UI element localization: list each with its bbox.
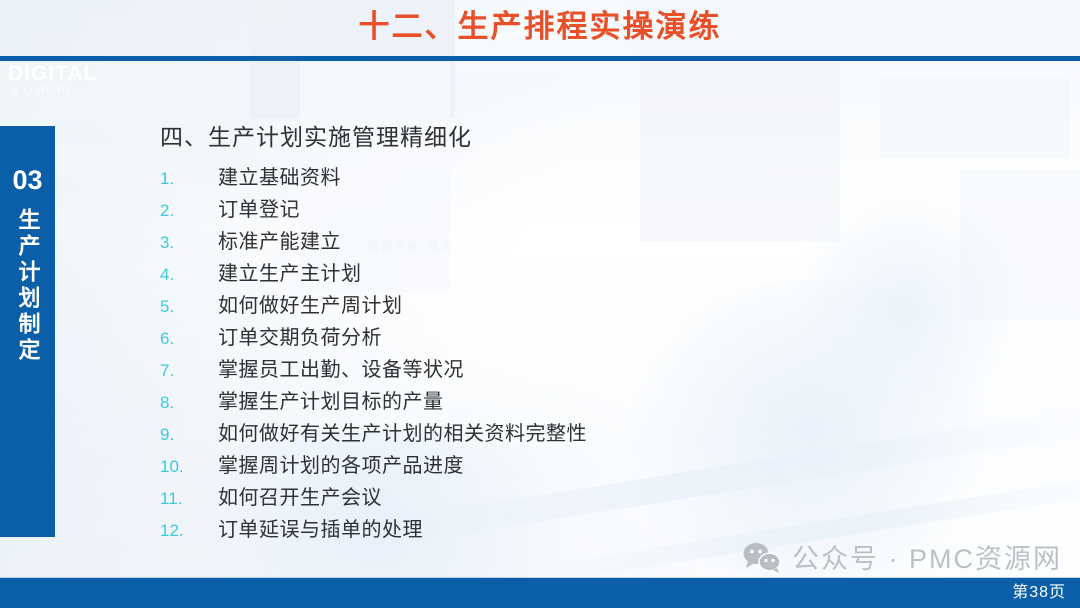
list-item-number: 7. bbox=[160, 355, 218, 387]
list-item-text: 如何召开生产会议 bbox=[218, 482, 382, 514]
list-item-text: 标准产能建立 bbox=[218, 226, 341, 258]
list-item-text: 如何做好生产周计划 bbox=[218, 290, 403, 322]
list-item-number: 1. bbox=[160, 163, 218, 195]
background-ghost-text: DIGITAL bbox=[8, 62, 97, 86]
wechat-icon bbox=[742, 541, 782, 573]
section-label: 生产计划制定 bbox=[9, 208, 47, 364]
list-item: 1.建立基础资料 bbox=[160, 162, 1040, 194]
list-item-number: 4. bbox=[160, 259, 218, 291]
list-item-text: 掌握周计划的各项产品进度 bbox=[218, 450, 464, 482]
list-item: 11.如何召开生产会议 bbox=[160, 482, 1040, 514]
list-item-number: 5. bbox=[160, 291, 218, 323]
list-item: 9.如何做好有关生产计划的相关资料完整性 bbox=[160, 418, 1040, 450]
list-item-text: 订单交期负荷分析 bbox=[218, 322, 382, 354]
list-item: 4.建立生产主计划 bbox=[160, 258, 1040, 290]
list-item-text: 建立生产主计划 bbox=[218, 258, 362, 290]
section-number: 03 bbox=[12, 164, 42, 196]
list-item-text: 订单登记 bbox=[218, 194, 300, 226]
list-item-number: 6. bbox=[160, 323, 218, 355]
watermark-text: 公众号 · PMC资源网 bbox=[792, 537, 1062, 576]
list-item: 3.标准产能建立 bbox=[160, 226, 1040, 258]
content-area: 四、生产计划实施管理精细化 1.建立基础资料2.订单登记3.标准产能建立4.建立… bbox=[160, 120, 1040, 546]
list-item-text: 建立基础资料 bbox=[218, 162, 341, 194]
list-item: 2.订单登记 bbox=[160, 194, 1040, 226]
content-heading: 四、生产计划实施管理精细化 bbox=[160, 120, 1040, 154]
header-divider bbox=[0, 56, 1080, 61]
list-item: 6.订单交期负荷分析 bbox=[160, 322, 1040, 354]
numbered-item-list: 1.建立基础资料2.订单登记3.标准产能建立4.建立生产主计划5.如何做好生产周… bbox=[160, 162, 1040, 546]
list-item-number: 2. bbox=[160, 195, 218, 227]
list-item-number: 11. bbox=[160, 483, 218, 515]
watermark: 公众号 · PMC资源网 bbox=[742, 537, 1062, 576]
list-item-number: 3. bbox=[160, 227, 218, 259]
list-item-text: 如何做好有关生产计划的相关资料完整性 bbox=[218, 418, 587, 450]
page-number: 第38页 bbox=[1012, 582, 1066, 604]
list-item-number: 9. bbox=[160, 419, 218, 451]
footer-bar: 第38页 bbox=[0, 578, 1080, 608]
section-tab: 03 生产计划制定 bbox=[0, 126, 55, 537]
list-item-number: 10. bbox=[160, 451, 218, 483]
list-item-text: 掌握生产计划目标的产量 bbox=[218, 386, 444, 418]
list-item: 8.掌握生产计划目标的产量 bbox=[160, 386, 1040, 418]
list-item-number: 8. bbox=[160, 387, 218, 419]
background-ghost-text: & LIBRARY bbox=[12, 86, 73, 97]
slide-title: 十二、生产排程实操演练 bbox=[0, 6, 1080, 48]
slide-canvas: DIGITAL & LIBRARY Take a n feature learn… bbox=[0, 0, 1080, 608]
list-item-number: 12. bbox=[160, 515, 218, 547]
list-item: 10.掌握周计划的各项产品进度 bbox=[160, 450, 1040, 482]
list-item: 7.掌握员工出勤、设备等状况 bbox=[160, 354, 1040, 386]
list-item-text: 订单延误与插单的处理 bbox=[218, 514, 423, 546]
list-item-text: 掌握员工出勤、设备等状况 bbox=[218, 354, 464, 386]
list-item: 5.如何做好生产周计划 bbox=[160, 290, 1040, 322]
